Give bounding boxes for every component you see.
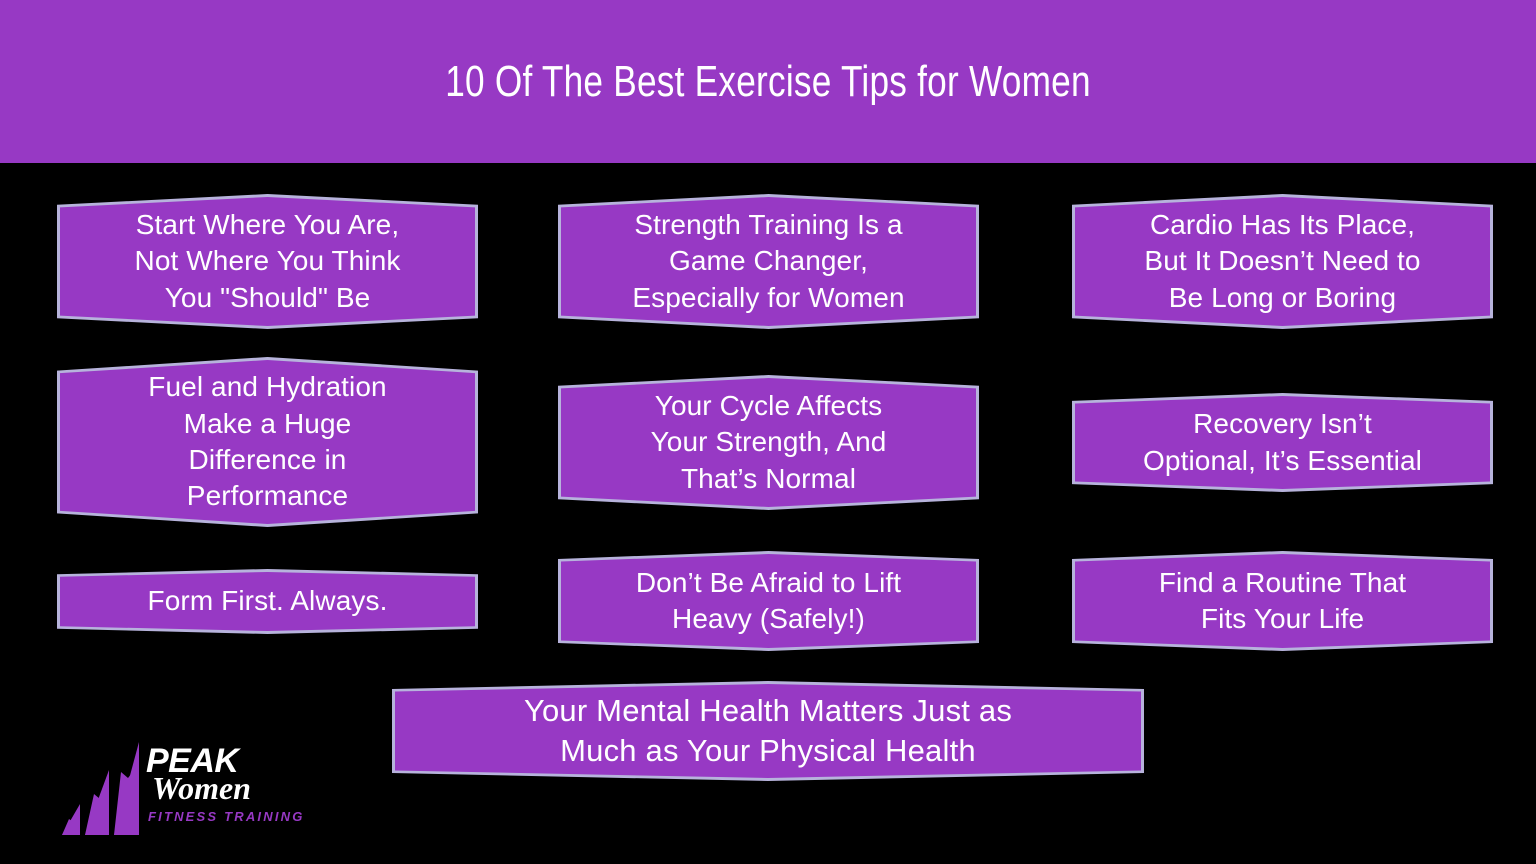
tip-card-text: Strength Training Is a Game Changer, Esp…: [616, 207, 920, 316]
tip-card-9: Find a Routine That Fits Your Life: [1072, 551, 1493, 651]
logo-wordmark: PEAK Women FITNESS TRAINING: [146, 738, 276, 838]
tip-card-text: Your Mental Health Matters Just as Much …: [508, 691, 1028, 772]
tip-card-text: Form First. Always.: [132, 583, 404, 619]
tip-card-text: Start Where You Are, Not Where You Think…: [119, 207, 417, 316]
mountain-peaks-icon: [58, 732, 148, 840]
page-title: 10 Of The Best Exercise Tips for Women: [154, 0, 1383, 163]
tip-card-text: Don’t Be Afraid to Lift Heavy (Safely!): [620, 565, 917, 638]
tip-card-3: Cardio Has Its Place, But It Doesn’t Nee…: [1072, 194, 1493, 329]
tip-card-10: Your Mental Health Matters Just as Much …: [392, 681, 1144, 781]
tip-card-6: Recovery Isn’t Optional, It’s Essential: [1072, 393, 1493, 492]
brand-logo: PEAK Women FITNESS TRAINING: [58, 732, 273, 844]
tip-card-5: Your Cycle Affects Your Strength, And Th…: [558, 375, 979, 510]
tip-card-1: Start Where You Are, Not Where You Think…: [57, 194, 478, 329]
tip-card-text: Cardio Has Its Place, But It Doesn’t Nee…: [1128, 207, 1436, 316]
logo-tagline: FITNESS TRAINING: [148, 810, 298, 823]
tip-card-text: Your Cycle Affects Your Strength, And Th…: [635, 388, 903, 497]
tip-card-text: Recovery Isn’t Optional, It’s Essential: [1127, 406, 1438, 479]
tip-card-text: Find a Routine That Fits Your Life: [1143, 565, 1422, 638]
tip-card-7: Form First. Always.: [57, 569, 478, 634]
tip-card-2: Strength Training Is a Game Changer, Esp…: [558, 194, 979, 329]
logo-brand-secondary: Women: [152, 772, 282, 804]
tip-card-4: Fuel and Hydration Make a Huge Differenc…: [57, 357, 478, 527]
header-band: 10 Of The Best Exercise Tips for Women: [0, 0, 1536, 163]
tip-card-8: Don’t Be Afraid to Lift Heavy (Safely!): [558, 551, 979, 651]
tip-card-text: Fuel and Hydration Make a Huge Differenc…: [132, 369, 402, 515]
